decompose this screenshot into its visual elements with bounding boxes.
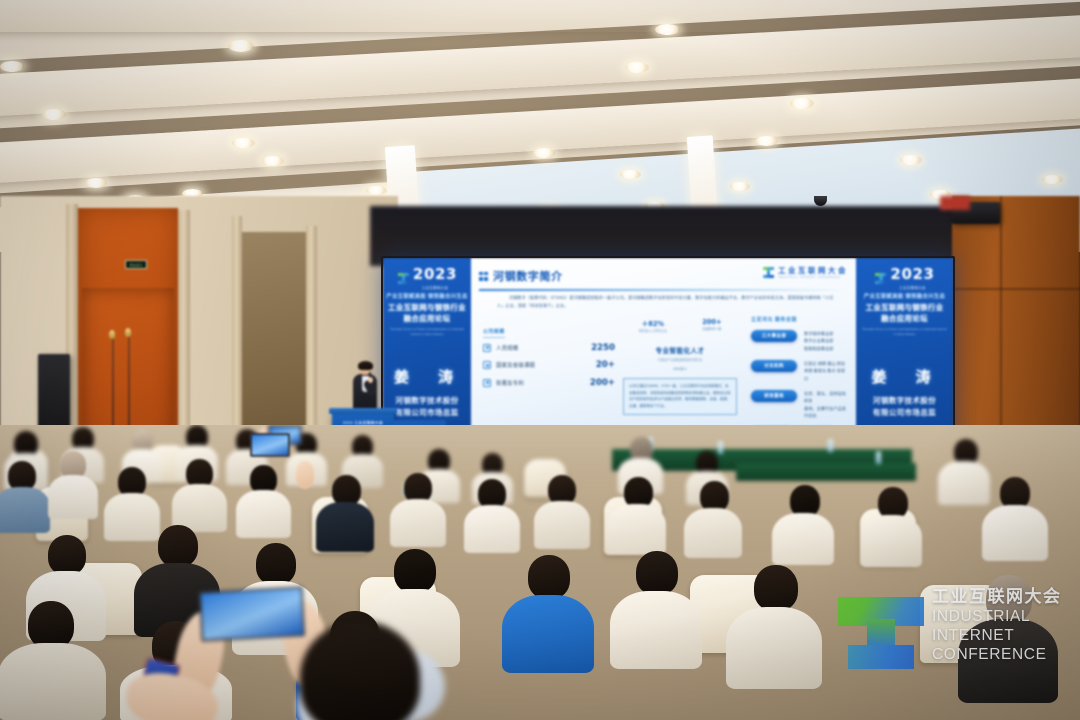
org-line: 基地，支撑平台产品迭代优化 xyxy=(804,405,848,420)
org-lines: 石家庄 邯郸 唐山 邢台 承德 秦皇岛 衡水 张家口 xyxy=(804,360,848,382)
banner-title-line2: 融合应用论坛 xyxy=(856,314,953,325)
conference-logo-right: 2023 工业互联网大会 xyxy=(856,266,953,290)
banner-title-line1: 工业互联网与钢铁行业 xyxy=(856,303,953,314)
conference-logo-icon xyxy=(874,272,887,285)
org-line: 承德 秦皇岛 衡水 张家口 xyxy=(804,367,848,382)
far-wall-dark xyxy=(370,206,970,266)
speaker-role-right-line1: 河钢数字技术股份 xyxy=(856,395,953,407)
conference-logo-icon xyxy=(397,272,410,285)
stat-value: 2250 xyxy=(591,343,615,353)
talent-metrics: ＋82% 本科及以上学历占比 200+ 高级职称人数 xyxy=(621,318,739,334)
watermark-en-1: INDUSTRIAL xyxy=(932,607,1062,626)
watermark-en-3: CONFERENCE xyxy=(932,645,1062,664)
coverage-label: 立足河北 服务全国 xyxy=(751,316,848,323)
talent-subtitle: 打造全产业链智能制造专家队伍 xyxy=(621,357,739,362)
org-pill: 分支机构 xyxy=(751,360,797,372)
watermark-cn: 工业互联网大会 xyxy=(932,587,1062,607)
slide-right-column: 立足河北 服务全国 三大事业部 数字政府事业部 数字企业事业部 智能制造事业部 … xyxy=(751,316,848,427)
watermark-en-2: INTERNET xyxy=(932,626,1062,645)
stat-label: 国家及省级课题 xyxy=(496,361,596,369)
org-row: 研发基地 北京、青岛、深圳设有研发 基地，支撑平台产品迭代优化 xyxy=(751,390,848,419)
conference-photo-scene: 安全出口 2023 工业互联网大会 产 xyxy=(0,0,1080,720)
ceiling-wall-joint xyxy=(940,196,970,210)
people-icon xyxy=(483,344,491,352)
phone-camera xyxy=(250,433,290,457)
logo-year: 2023 xyxy=(413,265,457,283)
qualification-note: 公司已通过CMMI5、ITSS一级、工业互联网平台应用新模式、安全集成资质、涉密… xyxy=(623,378,737,415)
phone-camera xyxy=(199,586,305,641)
stat-value: 20+ xyxy=(596,360,615,370)
logo-year: 2023 xyxy=(890,265,934,283)
slide-conference-mark: 工业互联网大会 INDUSTRIAL INTERNET CONFERENCE xyxy=(762,265,848,279)
org-row: 三大事业部 数字政府事业部 数字企业事业部 智能制造事业部 xyxy=(751,330,848,352)
speaker-role-left-line1: 河钢数字技术股份 xyxy=(383,395,471,407)
conference-logo-icon-slide xyxy=(762,266,775,279)
company-scale-label: 公司规模 xyxy=(483,328,505,338)
org-lines: 数字政府事业部 数字企业事业部 智能制造事业部 xyxy=(804,330,833,352)
document-icon xyxy=(483,361,491,369)
org-line: 北京、青岛、深圳设有研发 xyxy=(804,390,848,405)
conference-logo-left: 2023 工业互联网大会 xyxy=(383,266,471,290)
org-line: 数字政府事业部 xyxy=(804,330,833,337)
watermark-text: 工业互联网大会 INDUSTRIAL INTERNET CONFERENCE xyxy=(932,587,1062,664)
banner-tagline: 产业互联赋高能 钢铁融合兴生态 xyxy=(856,294,953,301)
conf-mark-cn: 工业互联网大会 xyxy=(778,265,848,276)
metric-label: 本科及以上学历占比 xyxy=(639,329,668,334)
talent-count: 1500余人 xyxy=(621,366,739,371)
exit-sign: 安全出口 xyxy=(125,260,147,269)
slide-mid-column: ＋82% 本科及以上学历占比 200+ 高级职称人数 专业智能化人才 打造全产业… xyxy=(621,318,739,415)
stat-row: 国家及省级课题 20+ xyxy=(483,360,615,370)
conf-mark-sub: INDUSTRIAL INTERNET CONFERENCE xyxy=(778,276,848,279)
speaker-role-right-line2: 有限公司市场总监 xyxy=(856,407,953,419)
banner-title-en: Thematic Forum on Fusion and Application… xyxy=(383,327,471,335)
certificate-icon xyxy=(483,379,491,387)
logo-subtitle: 工业互联网大会 xyxy=(890,285,934,290)
header-divider xyxy=(479,289,848,291)
industrial-internet-conference-logo-icon xyxy=(838,583,924,669)
stat-label: 软著及专利 xyxy=(496,379,590,387)
stat-label: 人员规模 xyxy=(496,344,591,352)
slide-title: 河钢数字简介 xyxy=(493,268,563,284)
metric-value: 200+ xyxy=(702,318,721,326)
speaker-name-left: 姜 涛 xyxy=(383,366,471,387)
org-line: 智能制造事业部 xyxy=(804,345,833,352)
exit-sign-label: 安全出口 xyxy=(130,263,143,267)
speaker-name-right: 姜 涛 xyxy=(856,366,953,387)
org-lines: 北京、青岛、深圳设有研发 基地，支撑平台产品迭代优化 xyxy=(804,390,848,419)
conference-watermark: 工业互联网大会 INDUSTRIAL INTERNET CONFERENCE xyxy=(838,568,1076,684)
logo-subtitle: 工业互联网大会 xyxy=(413,285,457,290)
metric-value: ＋82% xyxy=(639,318,668,328)
org-pill: 研发基地 xyxy=(751,390,797,402)
panel-table xyxy=(736,463,916,481)
stat-value: 200+ xyxy=(590,378,615,388)
metric-label: 高级职称人数 xyxy=(702,327,721,332)
slide-lead-paragraph: 河钢数字（股票代码：873462）是河钢集团控股的一级子公司，是河钢集团数字化转… xyxy=(497,294,838,309)
dot-grid-icon xyxy=(479,272,488,281)
banner-tagline: 产业互联赋高能 钢铁融合兴生态 xyxy=(383,294,471,301)
talent-title: 专业智能化人才 xyxy=(621,345,739,355)
banner-title-line2: 融合应用论坛 xyxy=(383,314,471,325)
stat-row: 软著及专利 200+ xyxy=(483,378,615,388)
stat-row: 人员规模 2250 xyxy=(483,343,615,353)
banner-title-line1: 工业互联网与钢铁行业 xyxy=(383,303,471,314)
org-line: 数字企业事业部 xyxy=(804,337,833,344)
org-row: 分支机构 石家庄 邯郸 唐山 邢台 承德 秦皇岛 衡水 张家口 xyxy=(751,360,848,382)
banner-title-en: Thematic Forum on Fusion and Application… xyxy=(856,327,953,335)
slide-left-column: 公司规模 人员规模 2250 国家及省级课题 20+ 软著及专利 200+ xyxy=(483,320,615,395)
org-line: 石家庄 邯郸 唐山 邢台 xyxy=(804,360,848,367)
org-pill: 三大事业部 xyxy=(751,330,797,342)
